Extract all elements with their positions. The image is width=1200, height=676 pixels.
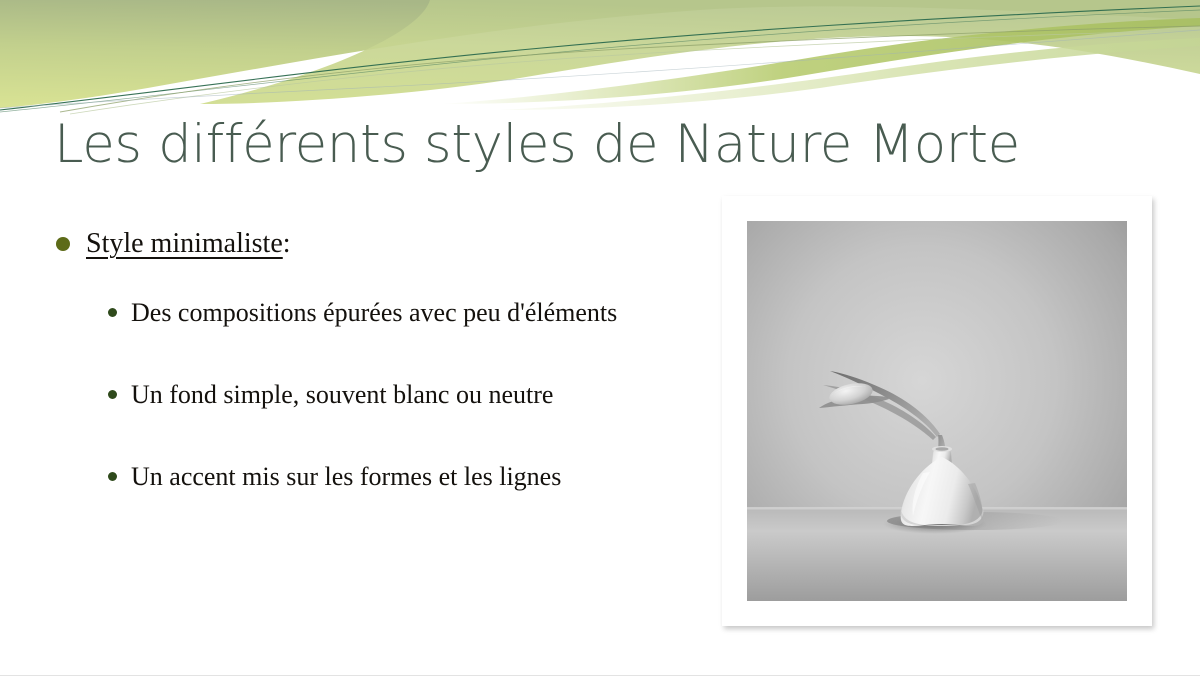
still-life-photograph xyxy=(747,221,1127,601)
bullet-dot-icon xyxy=(108,390,117,399)
bullet-level2: Des compositions épurées avec peu d'élém… xyxy=(108,295,696,331)
presentation-slide: Les différents styles de Nature Morte St… xyxy=(0,0,1200,676)
slide-title: Les différents styles de Nature Morte xyxy=(54,117,1114,173)
bullet-level2-label: Des compositions épurées avec peu d'élém… xyxy=(131,295,617,331)
bullet-level1-suffix: : xyxy=(283,226,291,261)
wave-graphic xyxy=(0,0,1200,115)
bullet-level1-label: Style minimaliste : xyxy=(86,226,291,261)
still-life-artwork xyxy=(747,221,1127,601)
bullet-dot-icon xyxy=(108,308,117,317)
bullet-level2: Un accent mis sur les formes et les lign… xyxy=(108,459,696,495)
bullet-level2-label: Un fond simple, souvent blanc ou neutre xyxy=(131,377,553,413)
decorative-wave-banner xyxy=(0,0,1200,115)
bullet-level1: Style minimaliste : xyxy=(56,226,696,261)
image-frame xyxy=(722,196,1152,626)
bullet-dot-icon xyxy=(108,472,117,481)
bullet-level2: Un fond simple, souvent blanc ou neutre xyxy=(108,377,696,413)
bullet-level2-list: Des compositions épurées avec peu d'élém… xyxy=(108,295,696,495)
bullet-level1-text: Style minimaliste xyxy=(86,228,283,259)
bullet-level2-label: Un accent mis sur les formes et les lign… xyxy=(131,459,561,495)
bullet-dot-icon xyxy=(56,237,70,251)
slide-body: Style minimaliste : Des compositions épu… xyxy=(56,226,696,495)
